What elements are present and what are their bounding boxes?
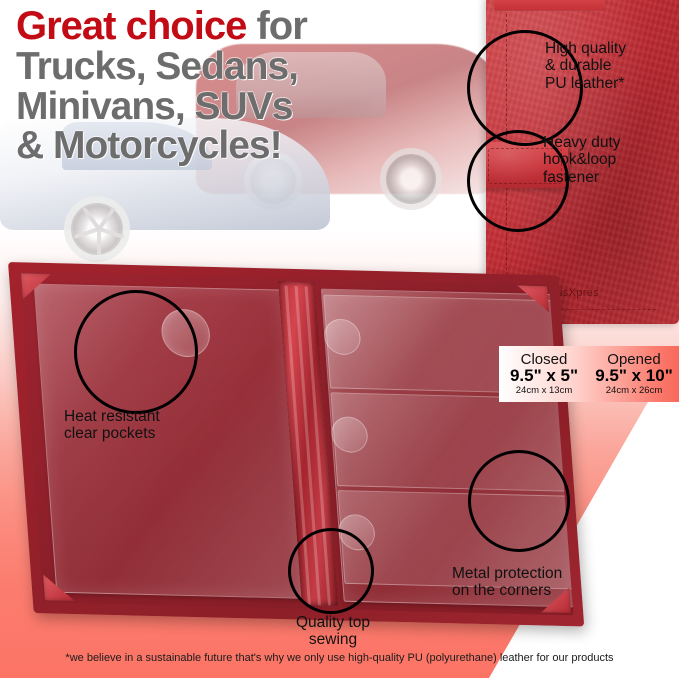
callout-label-pu-leather: High quality & durable PU leather*: [545, 40, 679, 92]
headline-line-4: & Motorcycles!: [16, 126, 466, 166]
dimensions-closed-metric: 24cm x 13cm: [516, 386, 573, 396]
dimensions-opened-column: Opened 9.5" x 10" 24cm x 26cm: [589, 346, 679, 402]
headline-red-text: Great choice: [16, 4, 246, 48]
dimensions-opened-imperial: 9.5" x 10": [595, 367, 673, 386]
headline-line-2: Trucks, Sedans,: [16, 47, 466, 87]
dimensions-closed-column: Closed 9.5" x 5" 24cm x 13cm: [499, 346, 589, 402]
product-infographic: Great choice for Trucks, Sedans, Minivan…: [0, 0, 679, 678]
wallet-top-flap: [494, 0, 604, 11]
headline-line-1: Great choice for: [16, 6, 466, 47]
callout-ring-metal-corners: [468, 450, 570, 552]
callout-ring-top-sewing: [288, 528, 374, 614]
callout-label-fastener: Heavy duty hook&loop fastener: [543, 134, 679, 186]
callout-label-top-sewing: Quality top sewing: [268, 614, 398, 649]
dimensions-closed-title: Closed: [521, 352, 568, 368]
callout-ring-clear-pockets: [74, 290, 198, 414]
footer-disclaimer: *we believe in a sustainable future that…: [0, 652, 679, 664]
sedan-wheel-icon: [64, 196, 130, 262]
dimensions-table: Closed 9.5" x 5" 24cm x 13cm Opened 9.5"…: [499, 346, 679, 402]
dimensions-closed-imperial: 9.5" x 5": [510, 367, 578, 386]
callout-label-clear-pockets: Heat resistant clear pockets: [64, 408, 224, 443]
headline-line-3: Minivans, SUVs: [16, 87, 466, 127]
dimensions-opened-title: Opened: [607, 352, 660, 368]
headline-block: Great choice for Trucks, Sedans, Minivan…: [16, 6, 466, 166]
dimensions-opened-metric: 24cm x 26cm: [606, 386, 663, 396]
headline-for-text: for: [246, 4, 306, 48]
callout-label-metal-corners: Metal protection on the corners: [452, 565, 632, 600]
